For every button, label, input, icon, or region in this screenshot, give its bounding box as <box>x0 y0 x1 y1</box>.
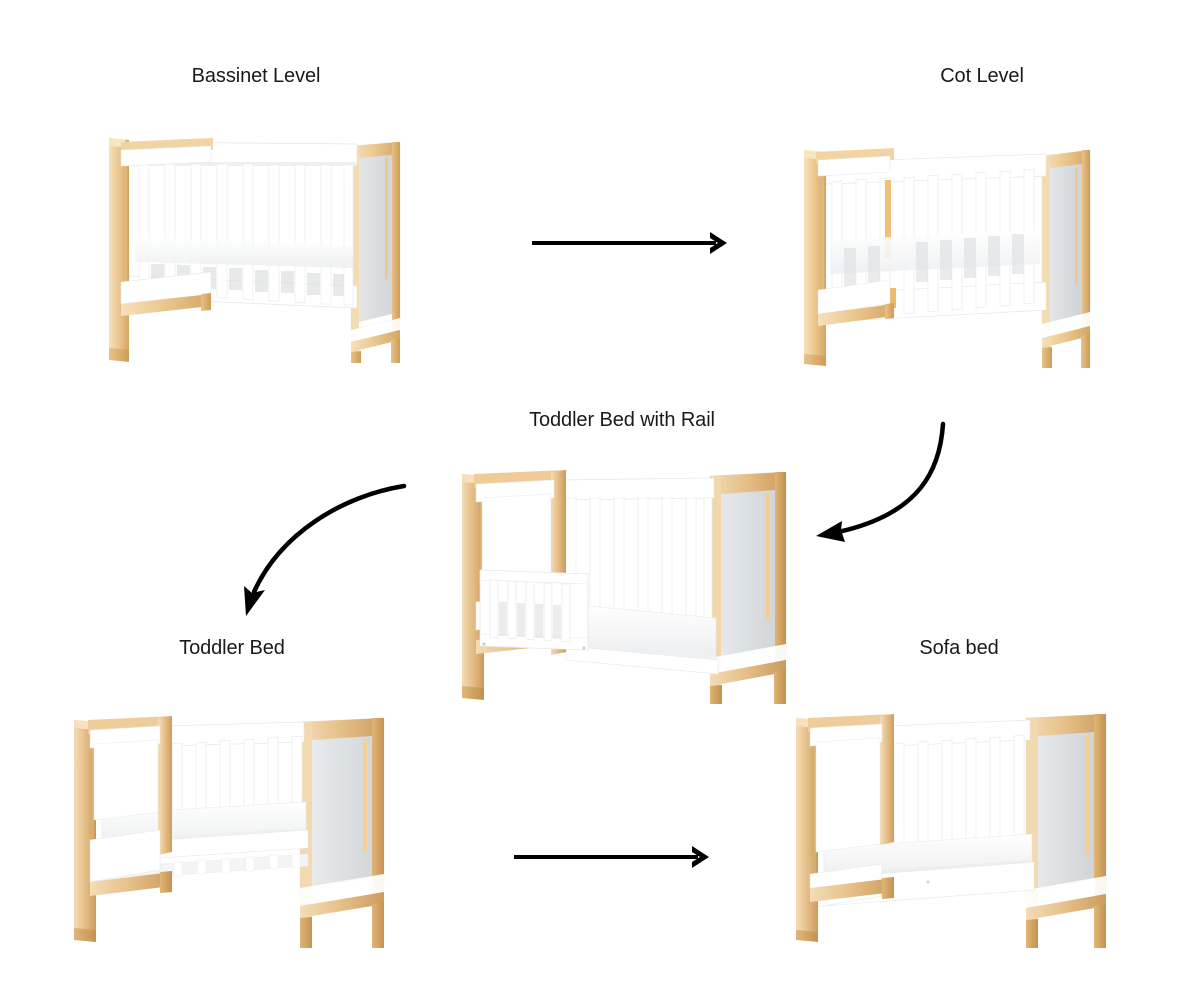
label-toddler-bed: Toddler Bed <box>179 638 285 658</box>
arrow-bassinet-to-cot <box>530 228 730 258</box>
crib-toddler-bed-with-rail <box>448 452 820 704</box>
crib-right-end-panel <box>1042 150 1090 368</box>
crib-right-end-panel <box>351 142 400 363</box>
label-sofa-bed: Sofa bed <box>919 638 998 658</box>
crib-illustration-bassinet <box>95 118 455 363</box>
crib-right-end-panel <box>300 718 384 948</box>
toddler-guard-rail <box>480 570 588 650</box>
crib-sofa-bed <box>782 692 1134 950</box>
crib-toddler-bed <box>62 692 414 950</box>
arrow-toddler-to-sofa <box>512 842 712 872</box>
crib-right-end-panel <box>1026 714 1106 948</box>
crib-cot-level <box>790 118 1140 368</box>
crib-back-slat-rail <box>166 722 304 812</box>
arrow-cot-to-toddler-rail <box>812 418 952 550</box>
crib-illustration-toddler-bed <box>62 692 414 950</box>
label-cot-level: Cot Level <box>940 66 1024 86</box>
crib-bassinet-level <box>95 118 455 363</box>
label-toddler-bed-with-rail: Toddler Bed with Rail <box>529 410 715 430</box>
crib-illustration-toddler-rail <box>448 452 820 704</box>
diagram-canvas: Bassinet Level Cot Level Toddler Bed wit… <box>0 0 1200 1000</box>
label-bassinet-level: Bassinet Level <box>192 66 321 86</box>
crib-back-slat-rail <box>888 720 1030 846</box>
crib-illustration-sofa-bed <box>782 692 1134 950</box>
crib-illustration-cot <box>790 118 1140 368</box>
crib-right-end-panel <box>710 472 786 704</box>
arrow-toddler-rail-to-toddler <box>232 480 408 620</box>
crib-left-end-panel <box>796 714 894 942</box>
